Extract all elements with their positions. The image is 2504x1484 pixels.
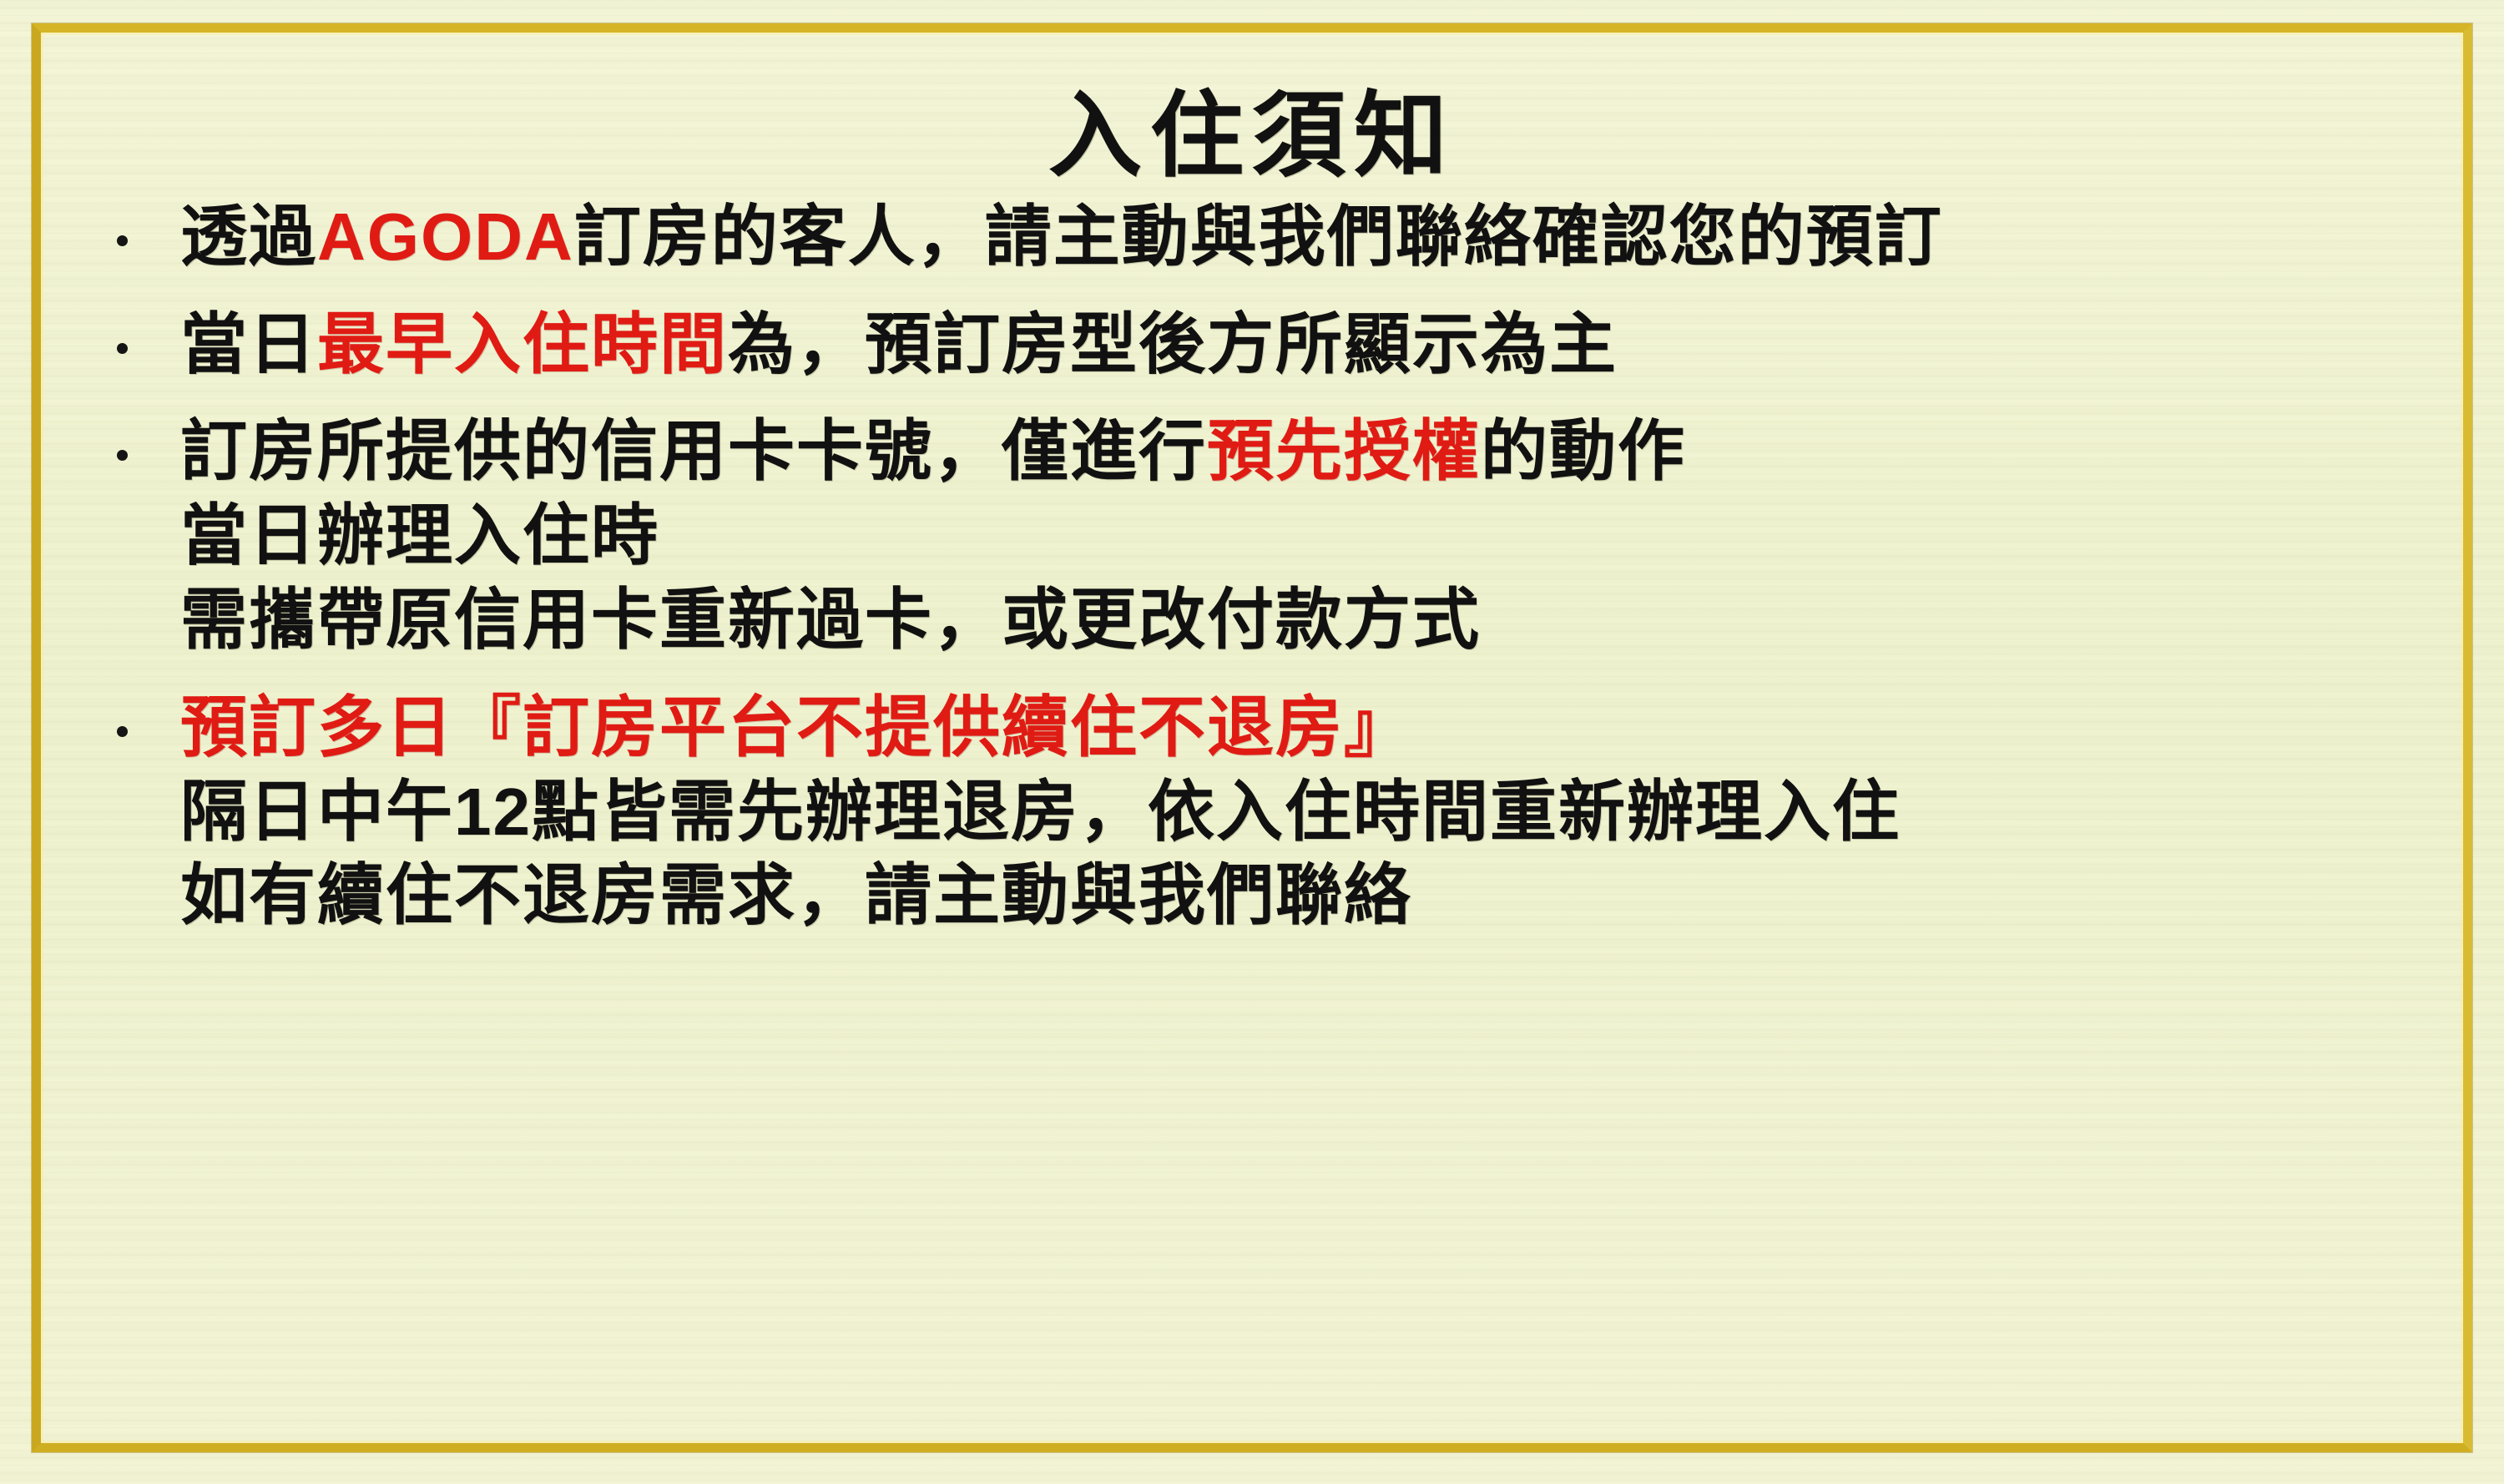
text-segment-highlight: 預訂多日『訂房平台不提供續住不退房』 [180,690,1412,765]
text-segment-highlight: 最早入住時間 [317,307,728,381]
notice-content: 入住須知 透過AGODA訂房的客人，請主動與我們聯絡確認您的預訂當日最早入住時間… [50,38,2454,1438]
bullet-dot-icon [117,450,128,461]
bullet-item-earliest-checkin-time: 當日最早入住時間為，預訂房型後方所顯示為主 [93,303,2411,387]
text-segment-normal: 當日 [180,307,317,381]
bullet-dot-icon [117,726,128,737]
bullet-continuation-line: 當日辦理入住時 [180,494,2411,578]
text-segment-normal: 的動作 [1481,414,1686,488]
bullet-continuation-line: 如有續住不退房需求，請主動與我們聯絡 [180,854,2411,938]
bullet-continuation-line: 隔日中午12點皆需先辦理退房，依入住時間重新辦理入住 [180,770,2411,855]
text-segment-normal: 隔日中午12點皆需先辦理退房，依入住時間重新辦理入住 [180,775,1901,849]
bullet-primary-line: 訂房所提供的信用卡卡號，僅進行預先授權的動作 [180,410,2411,494]
text-segment-normal: 為，預訂房型後方所顯示為主 [728,307,1618,381]
bullet-item-multi-day-no-continuous-stay: 預訂多日『訂房平台不提供續住不退房』隔日中午12點皆需先辦理退房，依入住時間重新… [93,686,2411,938]
notice-page: 入住須知 透過AGODA訂房的客人，請主動與我們聯絡確認您的預訂當日最早入住時間… [0,0,2504,1484]
bullet-dot-icon [117,343,128,354]
bullet-dot-icon [117,235,128,246]
bullet-primary-line: 當日最早入住時間為，預訂房型後方所顯示為主 [180,303,2411,387]
text-segment-normal: 當日辦理入住時 [180,498,659,573]
text-segment-normal: 訂房所提供的信用卡卡號，僅進行 [180,414,1207,488]
text-segment-normal: 訂房的客人，請主動與我們聯絡確認您的預訂 [574,199,1943,274]
text-segment-normal: 如有續住不退房需求，請主動與我們聯絡 [180,858,1412,932]
text-segment-normal: 透過 [180,199,317,274]
page-title: 入住須知 [93,83,2411,190]
bullet-item-agoda-booking: 透過AGODA訂房的客人，請主動與我們聯絡確認您的預訂 [93,195,2411,280]
bullet-primary-line: 透過AGODA訂房的客人，請主動與我們聯絡確認您的預訂 [180,195,2411,280]
bullet-primary-line: 預訂多日『訂房平台不提供續住不退房』 [180,686,2411,770]
text-segment-normal: 需攜帶原信用卡重新過卡，或更改付款方式 [180,583,1481,657]
bullet-continuation-line: 需攜帶原信用卡重新過卡，或更改付款方式 [180,578,2411,663]
text-segment-highlight: 預先授權 [1207,414,1481,488]
text-segment-highlight: AGODA [317,199,574,274]
notice-bullet-list: 透過AGODA訂房的客人，請主動與我們聯絡確認您的預訂當日最早入住時間為，預訂房… [93,195,2411,938]
bullet-item-credit-card-preauth: 訂房所提供的信用卡卡號，僅進行預先授權的動作當日辦理入住時需攜帶原信用卡重新過卡… [93,410,2411,662]
